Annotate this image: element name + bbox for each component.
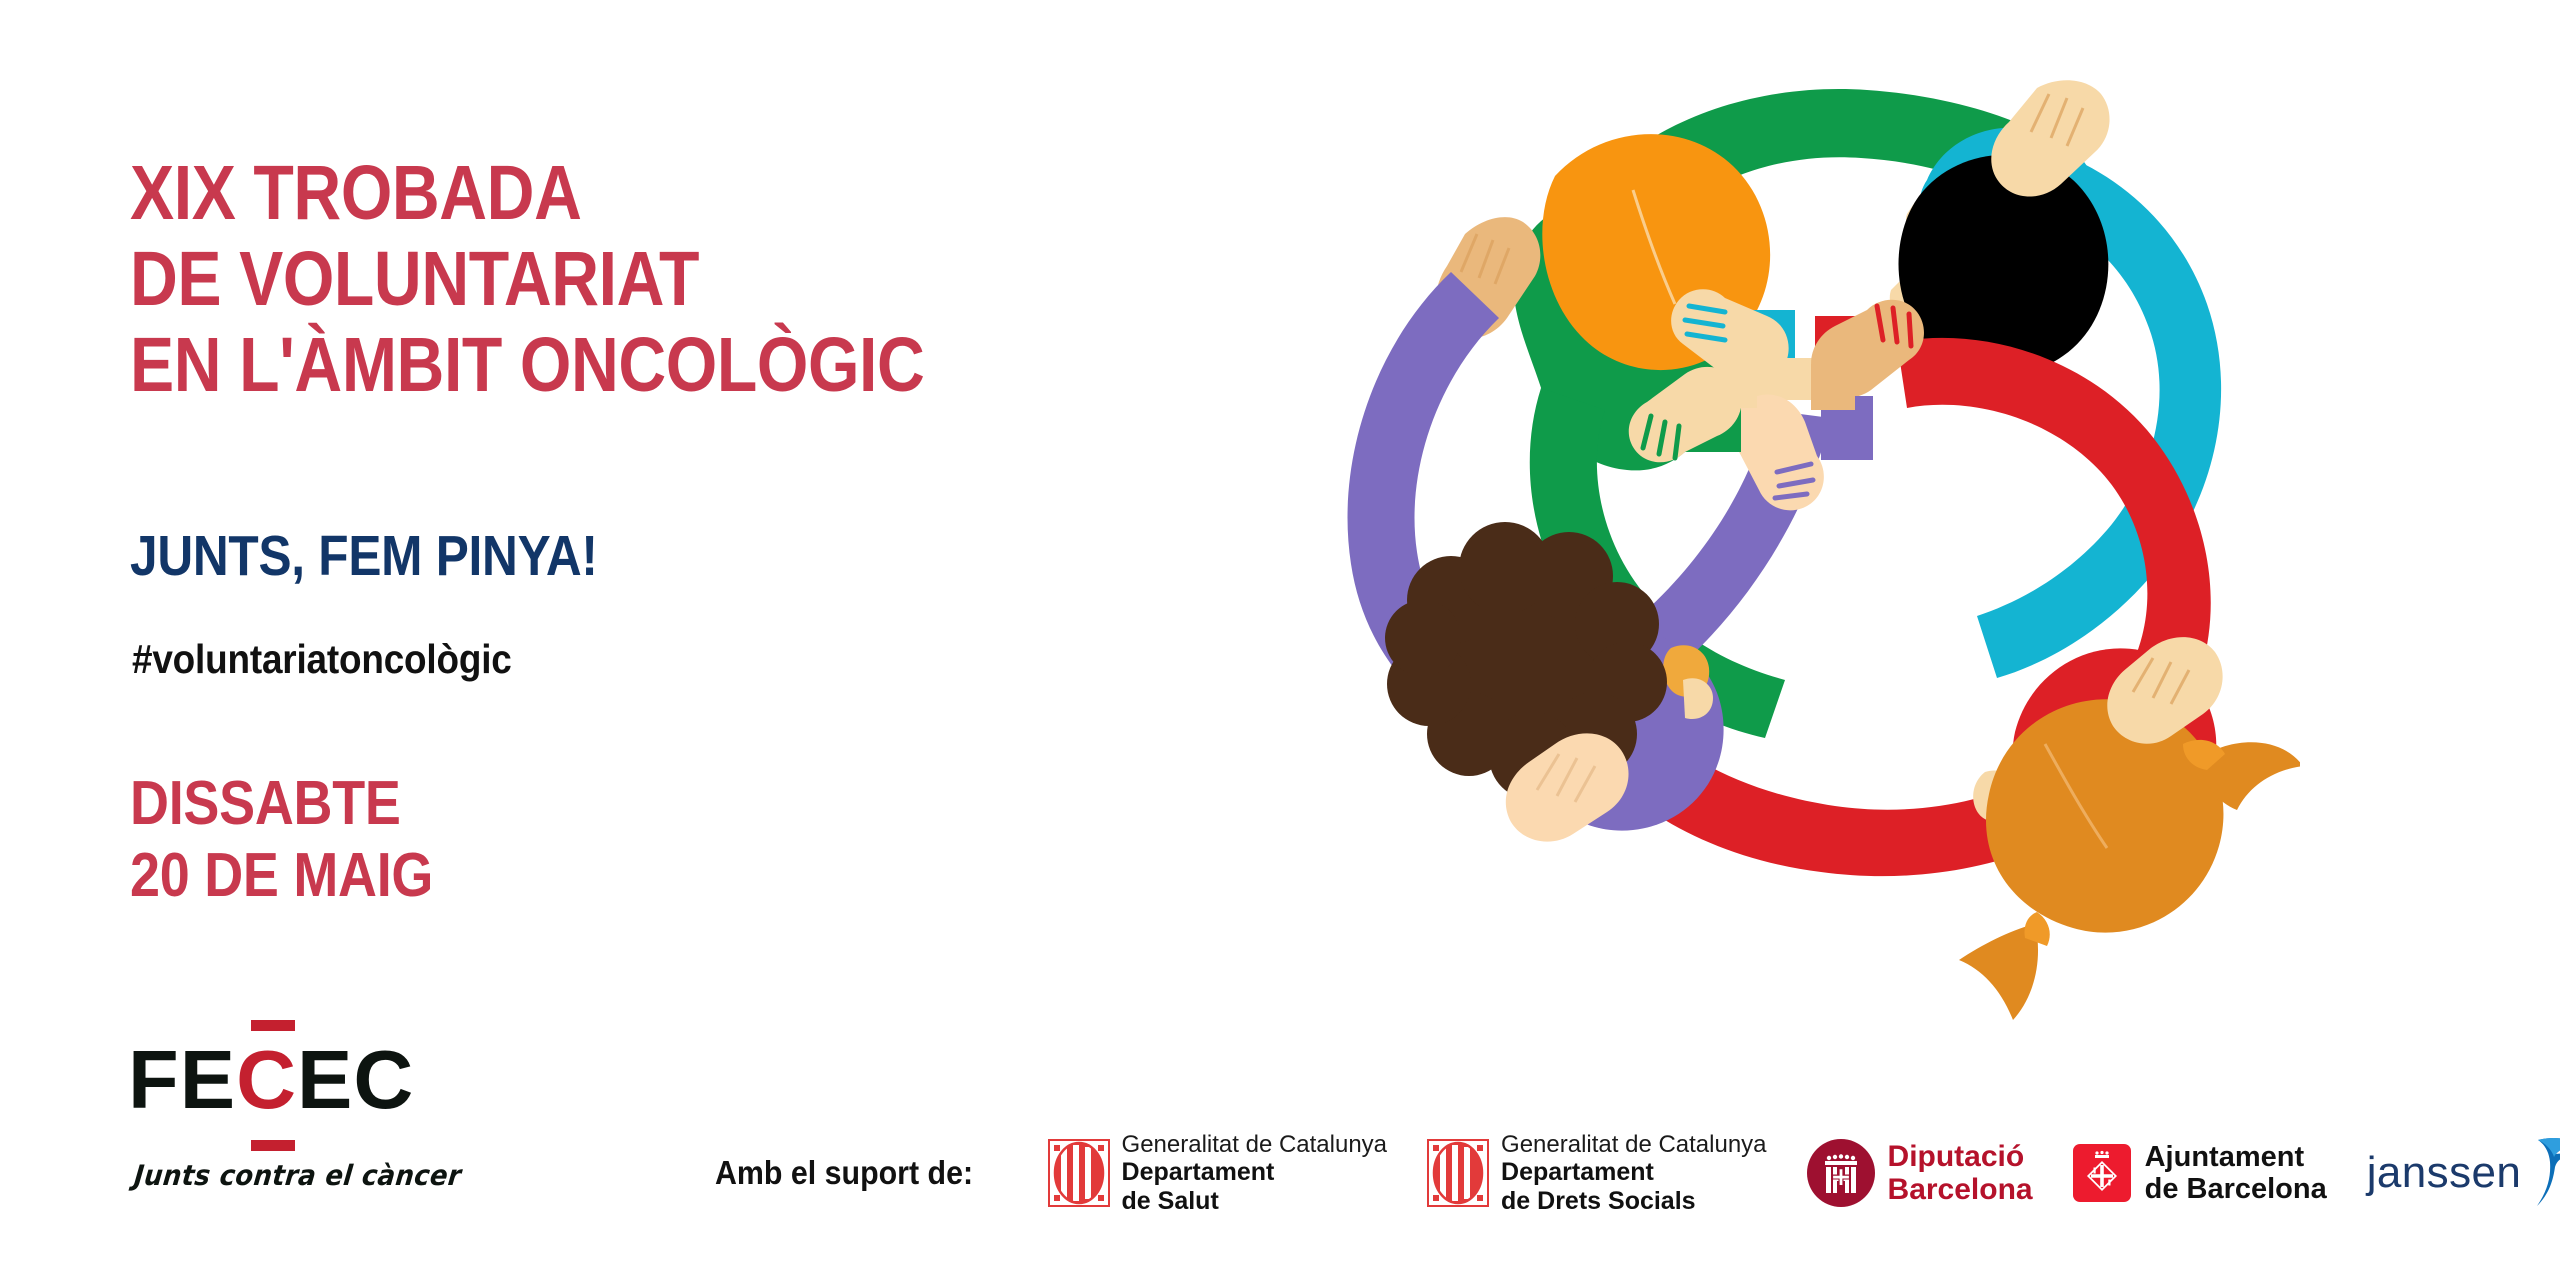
fecec-wordmark: FECEC [128, 1038, 414, 1124]
sponsor-line-2: Departament [1122, 1158, 1388, 1187]
sponsor-generalitat-drets-socials: Generalitat de Catalunya Departament de … [1427, 1131, 1767, 1215]
event-hashtag: #voluntariatoncològic [132, 636, 512, 683]
cyan-forearm [1755, 358, 1815, 400]
sponsor-line-3: de Drets Socials [1501, 1187, 1767, 1216]
fecec-wordmark-post: EC [297, 1033, 414, 1126]
red-figure-hair [1986, 699, 2223, 932]
sponsor-line-1: Diputació [1888, 1140, 2033, 1173]
red-forearm-skin [1811, 364, 1855, 410]
event-date-number: 20 DE MAIG [130, 840, 433, 912]
sponsor-label: Amb el suport de: [715, 1154, 973, 1192]
headline-line-3: EN L'ÀMBIT ONCOLÒGIC [130, 322, 924, 408]
sponsor-line-2: Barcelona [1888, 1173, 2033, 1206]
barcelona-crest-icon [2073, 1144, 2131, 1202]
fecec-wordmark-pre: FE [128, 1033, 236, 1126]
teamwork-illustration-svg [1255, 28, 2300, 1058]
event-date: DISSABTE 20 DE MAIG [130, 768, 433, 912]
fecec-wordmark-c: C [236, 1033, 297, 1126]
central-hand-cluster [1629, 289, 1924, 510]
sponsor-ajuntament-barcelona: Ajuntament de Barcelona [2073, 1141, 2327, 1206]
teamwork-illustration [1255, 28, 2300, 1058]
headline-line-1: XIX TROBADA [130, 150, 924, 236]
event-tagline: JUNTS, FEM PINYA! [130, 523, 598, 589]
sponsor-line-1: Ajuntament [2145, 1141, 2327, 1173]
fecec-slogan: Junts contra el càncer [133, 1160, 463, 1192]
fecec-bar-bottom-icon [251, 1140, 295, 1151]
sponsor-diputacio-barcelona: Diputació Barcelona [1807, 1139, 2033, 1207]
janssen-swoosh-icon [2525, 1136, 2560, 1210]
headline-line-2: DE VOLUNTARIAT [130, 236, 924, 322]
fecec-bar-top-icon [251, 1020, 295, 1031]
sponsor-ajuntament-text: Ajuntament de Barcelona [2145, 1141, 2327, 1206]
sponsor-diputacio-text: Diputació Barcelona [1888, 1140, 2033, 1206]
green-forearm-skin [1717, 358, 1757, 408]
sponsor-strip: Amb el suport de: Generalitat de Catalun… [715, 1118, 2560, 1228]
page-title: XIX TROBADA DE VOLUNTARIAT EN L'ÀMBIT ON… [130, 150, 924, 409]
sponsor-generalitat-salut: Generalitat de Catalunya Departament de … [1048, 1131, 1388, 1215]
sponsor-line-2: de Barcelona [2145, 1173, 2327, 1205]
sponsor-line-3: de Salut [1122, 1187, 1388, 1216]
sponsor-generalitat-drets-socials-text: Generalitat de Catalunya Departament de … [1501, 1131, 1767, 1215]
sponsor-janssen: janssen [2367, 1136, 2560, 1210]
diputacio-crest-icon [1807, 1139, 1875, 1207]
senyera-shield-icon [1048, 1139, 1110, 1207]
sponsor-line-2: Departament [1501, 1158, 1767, 1187]
senyera-shield-icon [1427, 1139, 1489, 1207]
sponsor-generalitat-salut-text: Generalitat de Catalunya Departament de … [1122, 1131, 1388, 1215]
sponsor-line-1: Generalitat de Catalunya [1122, 1131, 1388, 1158]
fecec-logo: FECEC Junts contra el càncer [128, 1020, 428, 1200]
event-date-day: DISSABTE [130, 768, 433, 840]
sponsor-line-1: Generalitat de Catalunya [1501, 1131, 1767, 1158]
sponsor-janssen-wordmark: janssen [2367, 1148, 2521, 1198]
